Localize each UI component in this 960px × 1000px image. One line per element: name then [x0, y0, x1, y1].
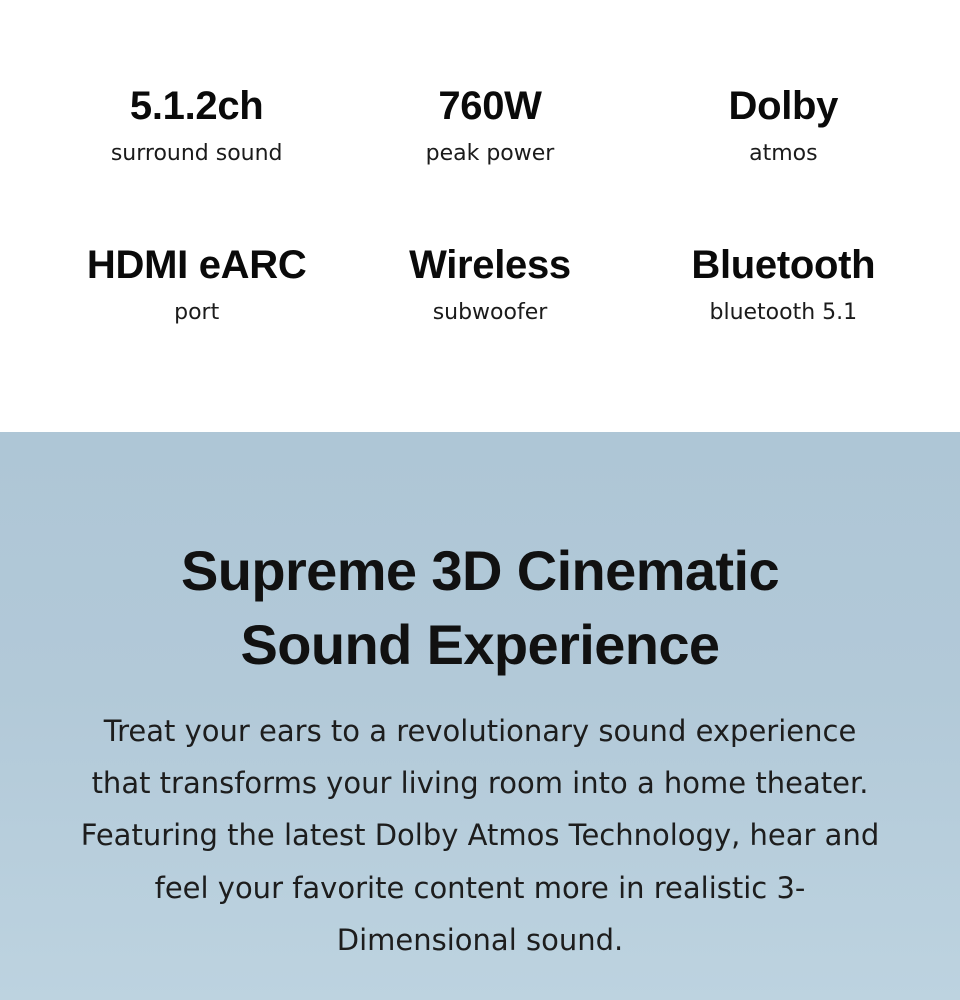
spec-item-surround-sound: 5.1.2ch surround sound [50, 84, 343, 167]
product-feature-page: 5.1.2ch surround sound 760W peak power D… [0, 0, 960, 1000]
spec-value: 5.1.2ch [50, 84, 343, 129]
specs-section: 5.1.2ch surround sound 760W peak power D… [0, 0, 960, 432]
spec-item-bluetooth: Bluetooth bluetooth 5.1 [637, 243, 930, 326]
spec-value: HDMI eARC [50, 243, 343, 288]
spec-value: Bluetooth [637, 243, 930, 288]
spec-item-hdmi-earc: HDMI eARC port [50, 243, 343, 326]
spec-value: Wireless [343, 243, 636, 288]
hero-title-line-1: Supreme 3D Cinematic [181, 539, 779, 602]
hero-title-line-2: Sound Experience [241, 613, 720, 676]
spec-item-peak-power: 760W peak power [343, 84, 636, 167]
spec-label: bluetooth 5.1 [637, 300, 930, 326]
spec-value: 760W [343, 84, 636, 129]
hero-section: Supreme 3D Cinematic Sound Experience Tr… [0, 432, 960, 1000]
spec-value: Dolby [637, 84, 930, 129]
spec-label: peak power [343, 141, 636, 167]
spec-label: surround sound [50, 141, 343, 167]
hero-title: Supreme 3D Cinematic Sound Experience [100, 534, 860, 683]
spec-label: atmos [637, 141, 930, 167]
spec-item-dolby-atmos: Dolby atmos [637, 84, 930, 167]
spec-item-wireless-subwoofer: Wireless subwoofer [343, 243, 636, 326]
spec-label: port [50, 300, 343, 326]
spec-label: subwoofer [343, 300, 636, 326]
hero-paragraph: Treat your ears to a revolutionary sound… [80, 705, 880, 966]
specs-grid: 5.1.2ch surround sound 760W peak power D… [30, 84, 930, 326]
